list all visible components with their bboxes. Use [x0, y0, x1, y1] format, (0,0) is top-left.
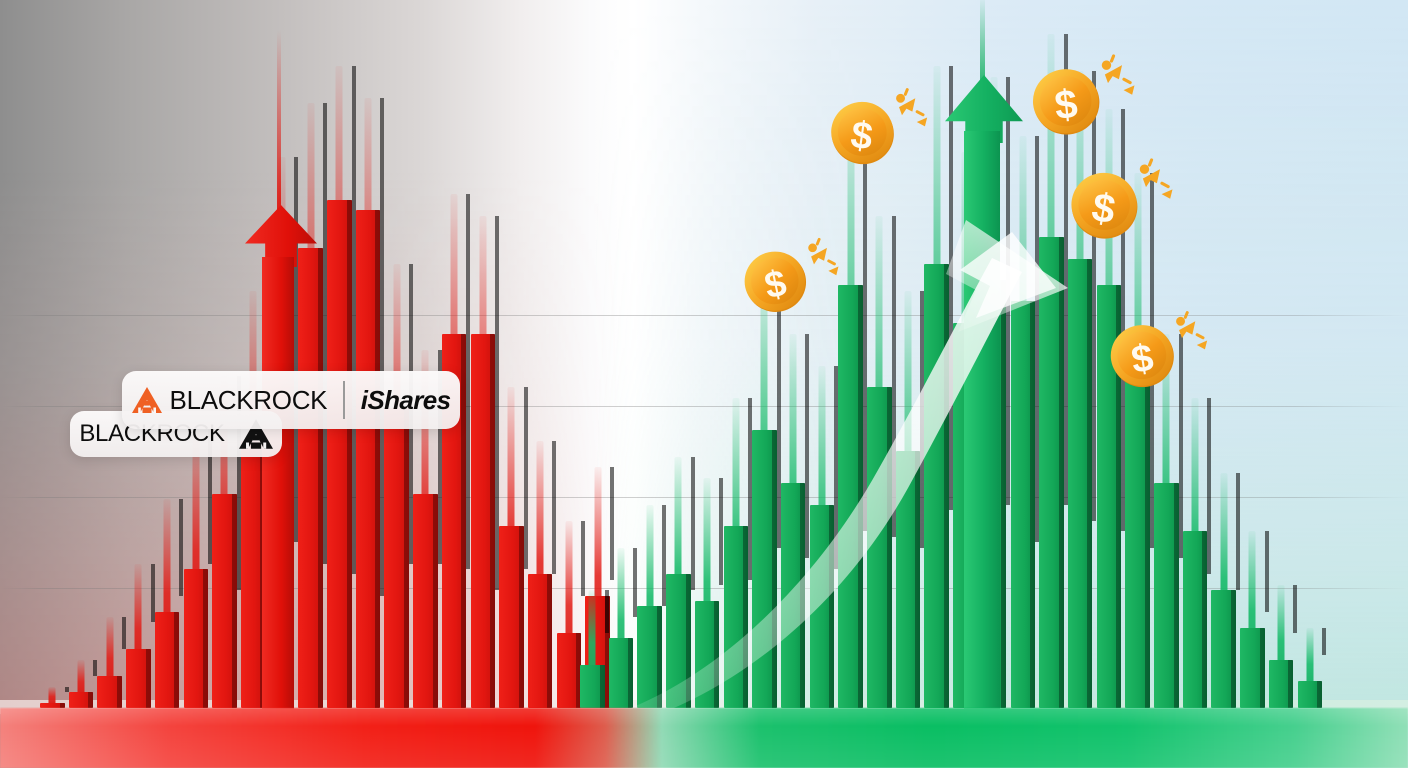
badge-divider: [343, 381, 345, 419]
blackrock-wordmark: BLACKROCK: [170, 385, 328, 416]
bar-side-shade: [1231, 590, 1236, 708]
bar-body: [557, 633, 582, 708]
bar-body: [867, 387, 892, 708]
bar-body: [499, 526, 524, 708]
bar-body: [471, 334, 496, 709]
bar-side-shade: [1260, 628, 1265, 708]
bar-side-shade: [88, 692, 93, 708]
dollar-coin-icon: $: [742, 232, 846, 326]
bar-gap-shadow: [1322, 628, 1326, 655]
bar-body: [212, 494, 237, 708]
bar-side-shade: [1288, 660, 1293, 708]
bar-body: [781, 483, 806, 708]
bar-body: [155, 612, 180, 708]
dollar-coin-icon: $: [1068, 152, 1181, 253]
bar-body: [695, 601, 720, 708]
bar-side-shade: [117, 676, 122, 708]
red-up-arrow-icon: [245, 205, 317, 710]
bar-g1: [580, 590, 605, 708]
bar-body: [810, 505, 835, 708]
bar-g23: [1211, 473, 1236, 708]
bar-r6: [184, 424, 209, 708]
bar-body: [126, 649, 151, 708]
bar-side-shade: [1317, 681, 1322, 708]
bar-body: [1298, 681, 1323, 708]
bar-r19: [557, 521, 582, 708]
bar-body: [327, 200, 352, 708]
bar-body: [384, 408, 409, 708]
bar-g25: [1269, 585, 1294, 708]
bar-body: [1154, 483, 1179, 708]
bar-g10: [838, 109, 863, 708]
bar-r17: [499, 387, 524, 708]
bar-body: [97, 676, 122, 708]
bar-body: [356, 210, 381, 708]
chart-illustration: $$$$$ BLACKROCK iShares BLACKROCK: [0, 0, 1408, 768]
bar-side-shade: [203, 569, 208, 708]
bar-body: [1211, 590, 1236, 708]
bar-g9: [810, 366, 835, 708]
bar-body: [413, 494, 438, 708]
bar-g5: [695, 478, 720, 708]
bar-g22: [1183, 398, 1208, 708]
dollar-coin-icon: $: [1108, 305, 1215, 401]
bar-body: [1039, 237, 1064, 708]
ishares-wordmark: iShares: [361, 385, 451, 416]
bar-body: [752, 430, 777, 708]
bar-g7: [752, 269, 777, 708]
bar-body: [1183, 531, 1208, 708]
bar-r2: [69, 660, 94, 708]
bar-body: [528, 574, 553, 708]
bar-body: [1240, 628, 1265, 708]
bar-side-shade: [600, 665, 605, 708]
bar-body: [666, 574, 691, 708]
bar-r3: [97, 617, 122, 708]
bar-body: [896, 451, 921, 708]
bar-g24: [1240, 531, 1265, 708]
green-arrow-tip-line: [980, 0, 985, 80]
dollar-coin-icon: $: [1030, 48, 1143, 149]
bar-body: [609, 638, 634, 708]
bar-r4: [126, 564, 151, 708]
bar-side-shade: [657, 606, 662, 708]
bar-body: [838, 285, 863, 708]
bar-g2: [609, 548, 634, 709]
bar-body: [1269, 660, 1294, 708]
bar-body: [184, 569, 209, 708]
bar-side-shade: [174, 612, 179, 708]
bar-g11: [867, 216, 892, 708]
bar-body: [580, 665, 605, 708]
bar-g3: [637, 505, 662, 708]
bar-r1: [40, 687, 65, 708]
red-arrow-shaft: [262, 257, 294, 710]
bar-r15: [442, 194, 467, 708]
bar-side-shade: [547, 574, 552, 708]
blackrock-ishares-badge[interactable]: BLACKROCK iShares: [122, 371, 460, 429]
bar-side-shade: [628, 638, 633, 708]
bar-r18: [528, 441, 553, 709]
bar-r16: [471, 216, 496, 708]
bar-g6: [724, 398, 749, 708]
green-up-arrow-icon: [945, 75, 1023, 715]
bar-g12: [896, 291, 921, 708]
bar-side-shade: [714, 601, 719, 708]
bar-side-shade: [686, 574, 691, 708]
chart-floor-reflection: [0, 708, 1408, 768]
bar-body: [1068, 259, 1093, 708]
bar-body: [637, 606, 662, 708]
bar-gap-shadow: [1293, 585, 1297, 633]
blackrock-mark-icon: [132, 387, 162, 413]
bar-g8: [781, 334, 806, 709]
dollar-coin-icon: $: [828, 82, 935, 178]
green-arrow-shaft: [964, 131, 1000, 715]
bar-r13: [384, 264, 409, 708]
bar-body: [69, 692, 94, 708]
bar-side-shade: [146, 649, 151, 708]
svg-text:$: $: [1052, 80, 1079, 128]
bar-body: [724, 526, 749, 708]
bar-r5: [155, 499, 180, 708]
red-arrow-tip-line: [277, 30, 281, 210]
bar-g4: [666, 457, 691, 708]
bar-g26: [1298, 628, 1323, 708]
